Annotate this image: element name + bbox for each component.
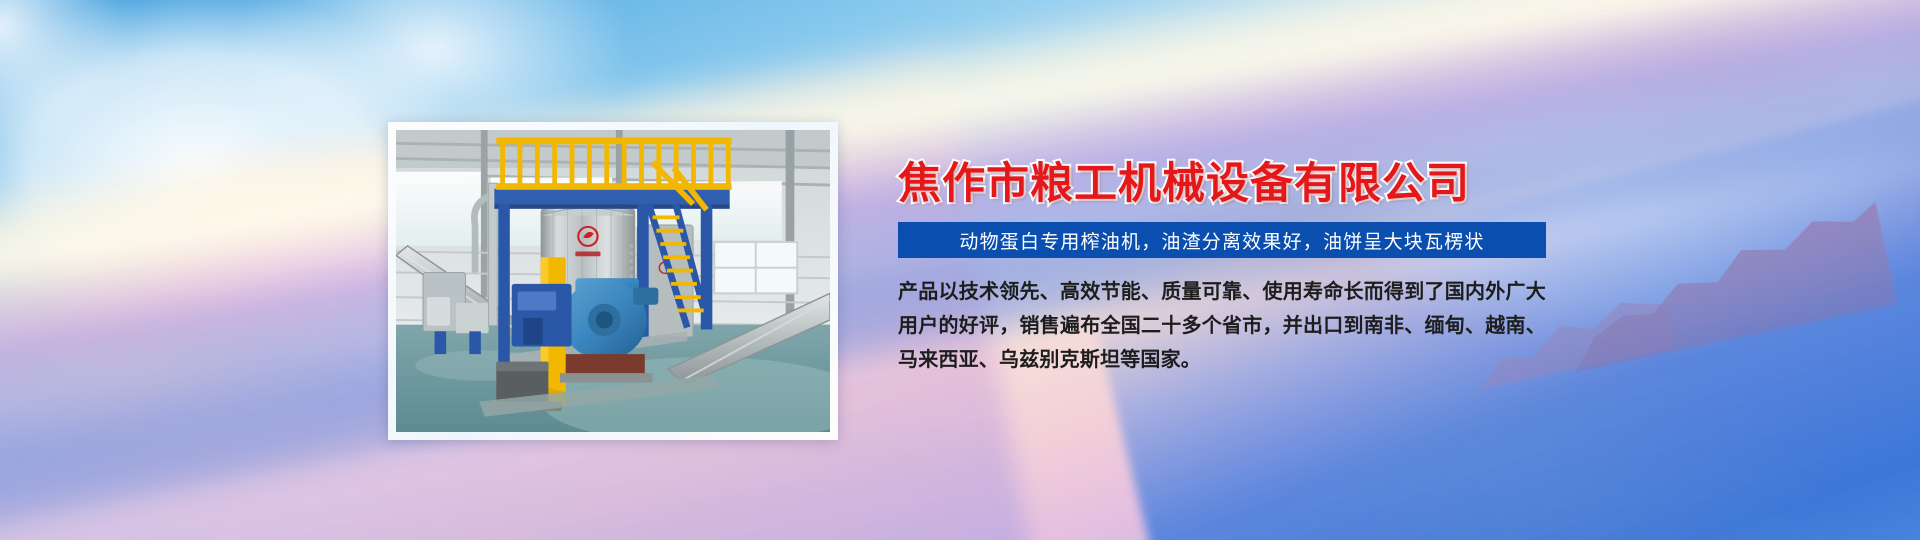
- banner-text-column: 焦作市粮工机械设备有限公司 动物蛋白专用榨油机，油渣分离效果好，油饼呈大块瓦楞状…: [898, 160, 1558, 397]
- subtitle-text: 动物蛋白专用榨油机，油渣分离效果好，油饼呈大块瓦楞状: [959, 227, 1484, 254]
- product-photo: [396, 130, 830, 432]
- company-banner: 焦作市粮工机械设备有限公司 动物蛋白专用榨油机，油渣分离效果好，油饼呈大块瓦楞状…: [0, 0, 1920, 540]
- factory-scene-illustration: [396, 130, 830, 432]
- blue-pump: [560, 278, 658, 382]
- subtitle-bar: 动物蛋白专用榨油机，油渣分离效果好，油饼呈大块瓦楞状: [898, 222, 1546, 258]
- body-description: 产品以技术领先、高效节能、质量可靠、使用寿命长而得到了国内外广大用户的好评，销售…: [898, 275, 1546, 377]
- company-title: 焦作市粮工机械设备有限公司: [898, 160, 1558, 208]
- product-photo-card: [388, 122, 838, 440]
